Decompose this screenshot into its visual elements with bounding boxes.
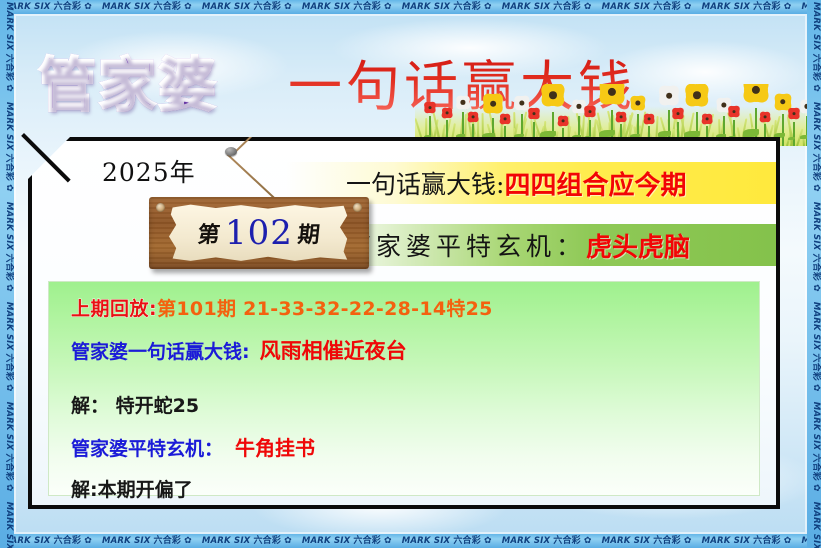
- mark-six-cn-text: 六合彩: [553, 3, 581, 12]
- mark-six-en-text: MARK SIX: [302, 3, 351, 12]
- flower-separator-icon: ✿: [384, 3, 392, 12]
- mark-six-cn-text: 六合彩: [54, 3, 82, 12]
- header-title-zone: 管家婆 一句话赢大钱: [0, 16, 821, 126]
- flower-separator-icon: ✿: [684, 3, 692, 12]
- mark-six-en-text: MARK SIX: [602, 537, 651, 546]
- banner-yellow-value: 四四组合应今期: [504, 165, 686, 202]
- mark-six-cn-text: 六合彩: [811, 353, 820, 381]
- mark-six-cn-text: 六合彩: [4, 154, 13, 182]
- flower-leaf: [599, 130, 616, 138]
- flower-separator-icon: ✿: [4, 184, 13, 192]
- flower-leaf: [788, 137, 796, 141]
- previous-slogan-label: 管家婆一句话赢大钱:: [71, 337, 250, 364]
- mark-six-cn-text: 六合彩: [253, 3, 281, 12]
- mark-six-en-text: MARK SIX: [602, 3, 651, 12]
- banner-yellow-label: 一句话赢大钱:: [346, 165, 504, 201]
- mark-six-en-text: MARK SIX: [502, 537, 551, 546]
- mark-six-en-text: MARK SIX: [302, 537, 351, 546]
- mark-six-en-text: MARK SIX: [4, 402, 13, 451]
- flower-leaf: [743, 129, 760, 137]
- mark-six-cn-text: 六合彩: [753, 537, 781, 546]
- mark-six-en-text: MARK SIX: [102, 537, 151, 546]
- mark-six-cn-text: 六合彩: [811, 453, 820, 481]
- mark-six-cn-text: 六合彩: [811, 154, 820, 182]
- banner-green-label: 管家婆平特玄机：: [346, 227, 586, 263]
- mark-six-cn-text: 六合彩: [154, 537, 182, 546]
- flower-separator-icon: ✿: [4, 384, 13, 392]
- mark-six-cn-text: 六合彩: [154, 3, 182, 12]
- answer-2-text: 解:本期开偏了: [71, 475, 193, 502]
- frame-band-bottom: MARK SIX六合彩✿MARK SIX六合彩✿MARK SIX六合彩✿MARK…: [0, 534, 821, 548]
- wooden-plaque: 第 102 期: [149, 197, 369, 269]
- flower-separator-icon: ✿: [184, 537, 192, 546]
- flower-separator-icon: ✿: [811, 184, 820, 192]
- mark-six-cn-text: 六合彩: [253, 537, 281, 546]
- flower-separator-icon: ✿: [84, 537, 92, 546]
- mark-six-en-text: MARK SIX: [811, 402, 820, 451]
- mark-six-en-text: MARK SIX: [4, 202, 13, 251]
- mark-six-en-text: MARK SIX: [202, 537, 251, 546]
- flower-separator-icon: ✿: [784, 3, 792, 12]
- replay-row: 上期回放: 第101期 21-33-32-22-28-14特25: [71, 294, 759, 321]
- frame-band-top: MARK SIX六合彩✿MARK SIX六合彩✿MARK SIX六合彩✿MARK…: [0, 0, 821, 14]
- flower-separator-icon: ✿: [4, 484, 13, 492]
- issue-prefix: 第: [196, 217, 221, 249]
- grass-blade: [790, 133, 794, 146]
- mark-six-cn-text: 六合彩: [4, 453, 13, 481]
- mark-six-en-text: MARK SIX: [4, 302, 13, 351]
- flower-separator-icon: ✿: [4, 284, 13, 292]
- mark-six-cn-text: 六合彩: [453, 537, 481, 546]
- mark-six-cn-text: 六合彩: [653, 3, 681, 12]
- previous-xuanji-label: 管家婆平特玄机：: [71, 434, 223, 461]
- mark-six-cn-text: 六合彩: [4, 253, 13, 281]
- flower-leaf: [540, 131, 555, 138]
- issue-suffix: 期: [296, 217, 321, 249]
- mark-six-en-text: MARK SIX: [4, 502, 13, 548]
- brand-title: 管家婆: [38, 38, 218, 122]
- mark-six-en-text: MARK SIX: [811, 502, 820, 548]
- previous-results-box: 上期回放: 第101期 21-33-32-22-28-14特25 管家婆一句话赢…: [48, 281, 760, 496]
- flower-leaf: [800, 135, 807, 139]
- nail-icon: [225, 147, 237, 156]
- mark-six-cn-text: 六合彩: [353, 537, 381, 546]
- mark-six-cn-text: 六合彩: [4, 353, 13, 381]
- flower-separator-icon: ✿: [811, 484, 820, 492]
- grass-blade: [786, 134, 791, 146]
- replay-label: 上期回放:: [71, 294, 157, 321]
- flower-separator-icon: ✿: [584, 537, 592, 546]
- flower-leaf: [684, 131, 699, 138]
- mark-six-cn-text: 六合彩: [353, 3, 381, 12]
- flower-separator-icon: ✿: [484, 537, 492, 546]
- flower-leaf: [658, 131, 671, 137]
- main-panel: 2025年 第 102 期 一句话赢大: [28, 137, 780, 509]
- flower-separator-icon: ✿: [84, 3, 92, 12]
- previous-slogan-value: 风雨相催近夜台: [260, 335, 407, 365]
- previous-xuanji-row: 管家婆平特玄机： 牛角挂书: [71, 432, 759, 461]
- mark-six-en-text: MARK SIX: [702, 537, 751, 546]
- mark-six-en-text: MARK SIX: [402, 537, 451, 546]
- flower-separator-icon: ✿: [811, 384, 820, 392]
- issue-number-text: 第 102 期: [149, 197, 369, 269]
- mark-six-en-text: MARK SIX: [702, 3, 751, 12]
- flower-separator-icon: ✿: [184, 3, 192, 12]
- flower-leaf: [456, 134, 465, 138]
- mark-six-cn-text: 六合彩: [553, 537, 581, 546]
- previous-slogan-row: 管家婆一句话赢大钱: 风雨相催近夜台: [71, 335, 759, 365]
- replay-value: 第101期 21-33-32-22-28-14特25: [157, 294, 493, 321]
- answer-row-1: 解： 特开蛇25: [71, 391, 759, 418]
- mark-six-en-text: MARK SIX: [202, 3, 251, 12]
- issue-number: 102: [225, 213, 293, 253]
- grass-blade: [802, 135, 805, 146]
- flower-separator-icon: ✿: [284, 3, 292, 12]
- flower-separator-icon: ✿: [284, 537, 292, 546]
- banner-green-value: 虎头虎脑: [586, 227, 690, 264]
- answer-1-text: 解： 特开蛇25: [71, 391, 199, 418]
- grass-blade: [796, 129, 803, 146]
- poster-canvas: MARK SIX六合彩✿MARK SIX六合彩✿MARK SIX六合彩✿MARK…: [0, 0, 821, 548]
- mark-six-en-text: MARK SIX: [811, 202, 820, 251]
- mark-six-cn-text: 六合彩: [653, 537, 681, 546]
- mark-six-cn-text: 六合彩: [753, 3, 781, 12]
- flower-separator-icon: ✿: [584, 3, 592, 12]
- mark-six-en-text: MARK SIX: [502, 3, 551, 12]
- answer-row-2: 解:本期开偏了: [71, 475, 759, 502]
- mark-six-en-text: MARK SIX: [402, 3, 451, 12]
- mark-six-en-text: MARK SIX: [811, 302, 820, 351]
- slogan-title: 一句话赢大钱: [288, 42, 636, 121]
- previous-xuanji-value: 牛角挂书: [235, 432, 315, 461]
- mark-six-cn-text: 六合彩: [453, 3, 481, 12]
- mark-six-cn-text: 六合彩: [54, 537, 82, 546]
- main-panel-inner: 2025年 第 102 期 一句话赢大: [32, 141, 776, 505]
- flower-separator-icon: ✿: [384, 537, 392, 546]
- flower-separator-icon: ✿: [784, 537, 792, 546]
- mark-six-cn-text: 六合彩: [811, 253, 820, 281]
- flower-separator-icon: ✿: [684, 537, 692, 546]
- flower-separator-icon: ✿: [484, 3, 492, 12]
- mark-six-en-text: MARK SIX: [102, 3, 151, 12]
- flower-separator-icon: ✿: [811, 284, 820, 292]
